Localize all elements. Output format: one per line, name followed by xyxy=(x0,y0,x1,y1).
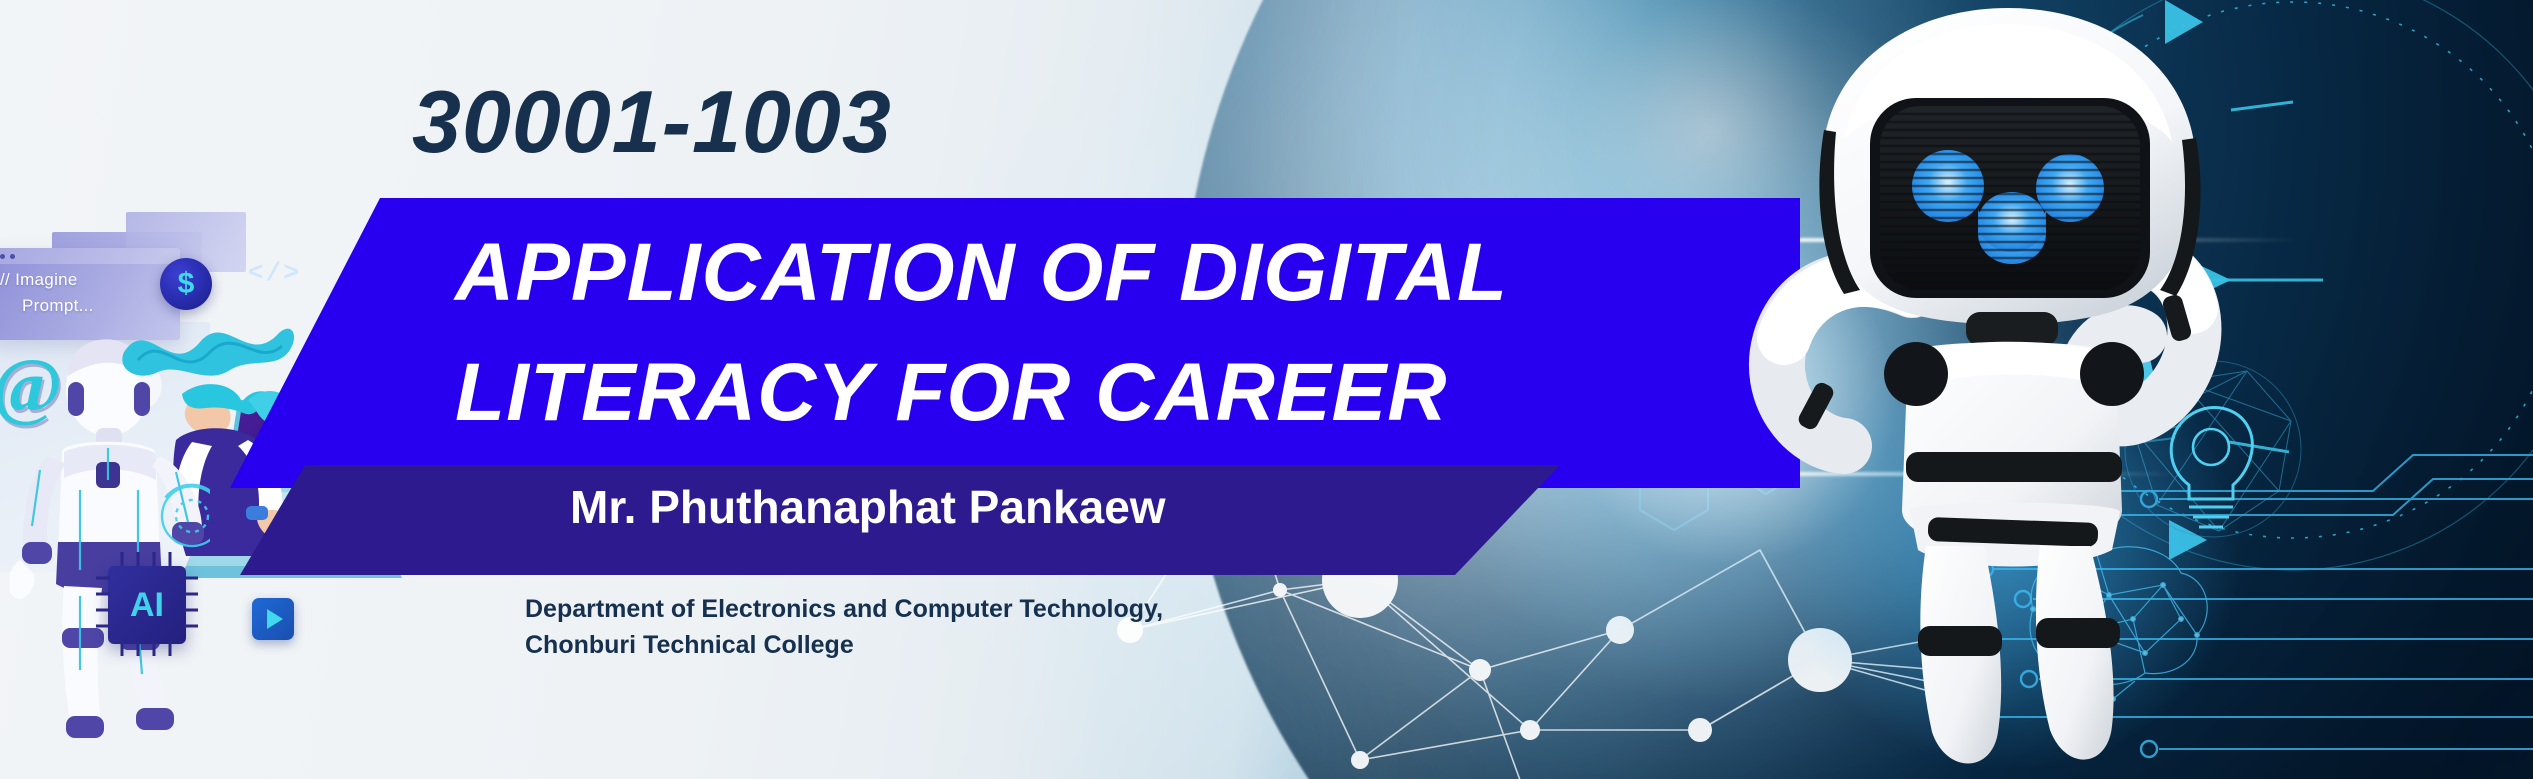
department-line-1: Department of Electronics and Computer T… xyxy=(525,592,1163,628)
chip-pins-graphic xyxy=(92,550,202,660)
instructor-name: Mr. Phuthanaphat Pankaew xyxy=(570,484,1166,530)
course-code: 30001-1003 xyxy=(412,78,892,166)
course-title-line-1: APPLICATION OF DIGITAL xyxy=(455,232,1508,314)
robot-mascot-graphic xyxy=(1740,0,2260,779)
wave-ribbon-graphic xyxy=(118,306,298,396)
prompt-window-titlebar xyxy=(0,248,180,264)
window-dot-icon xyxy=(10,254,15,259)
dollar-coin-icon: $ xyxy=(160,258,212,310)
course-banner: // Imagine Prompt... $ @ </> xyxy=(0,0,2533,779)
department-line-2: Chonburi Technical College xyxy=(525,628,1163,664)
prompt-line-2: Prompt... xyxy=(22,296,94,316)
prompt-line-1: // Imagine xyxy=(0,270,78,290)
play-button-icon xyxy=(252,598,294,640)
department-info: Department of Electronics and Computer T… xyxy=(525,592,1163,663)
dollar-symbol: $ xyxy=(178,267,195,301)
window-dot-icon xyxy=(0,254,5,259)
course-title-line-2: LITERACY FOR CAREER xyxy=(455,352,1447,434)
code-tag-icon: </> xyxy=(248,258,301,288)
